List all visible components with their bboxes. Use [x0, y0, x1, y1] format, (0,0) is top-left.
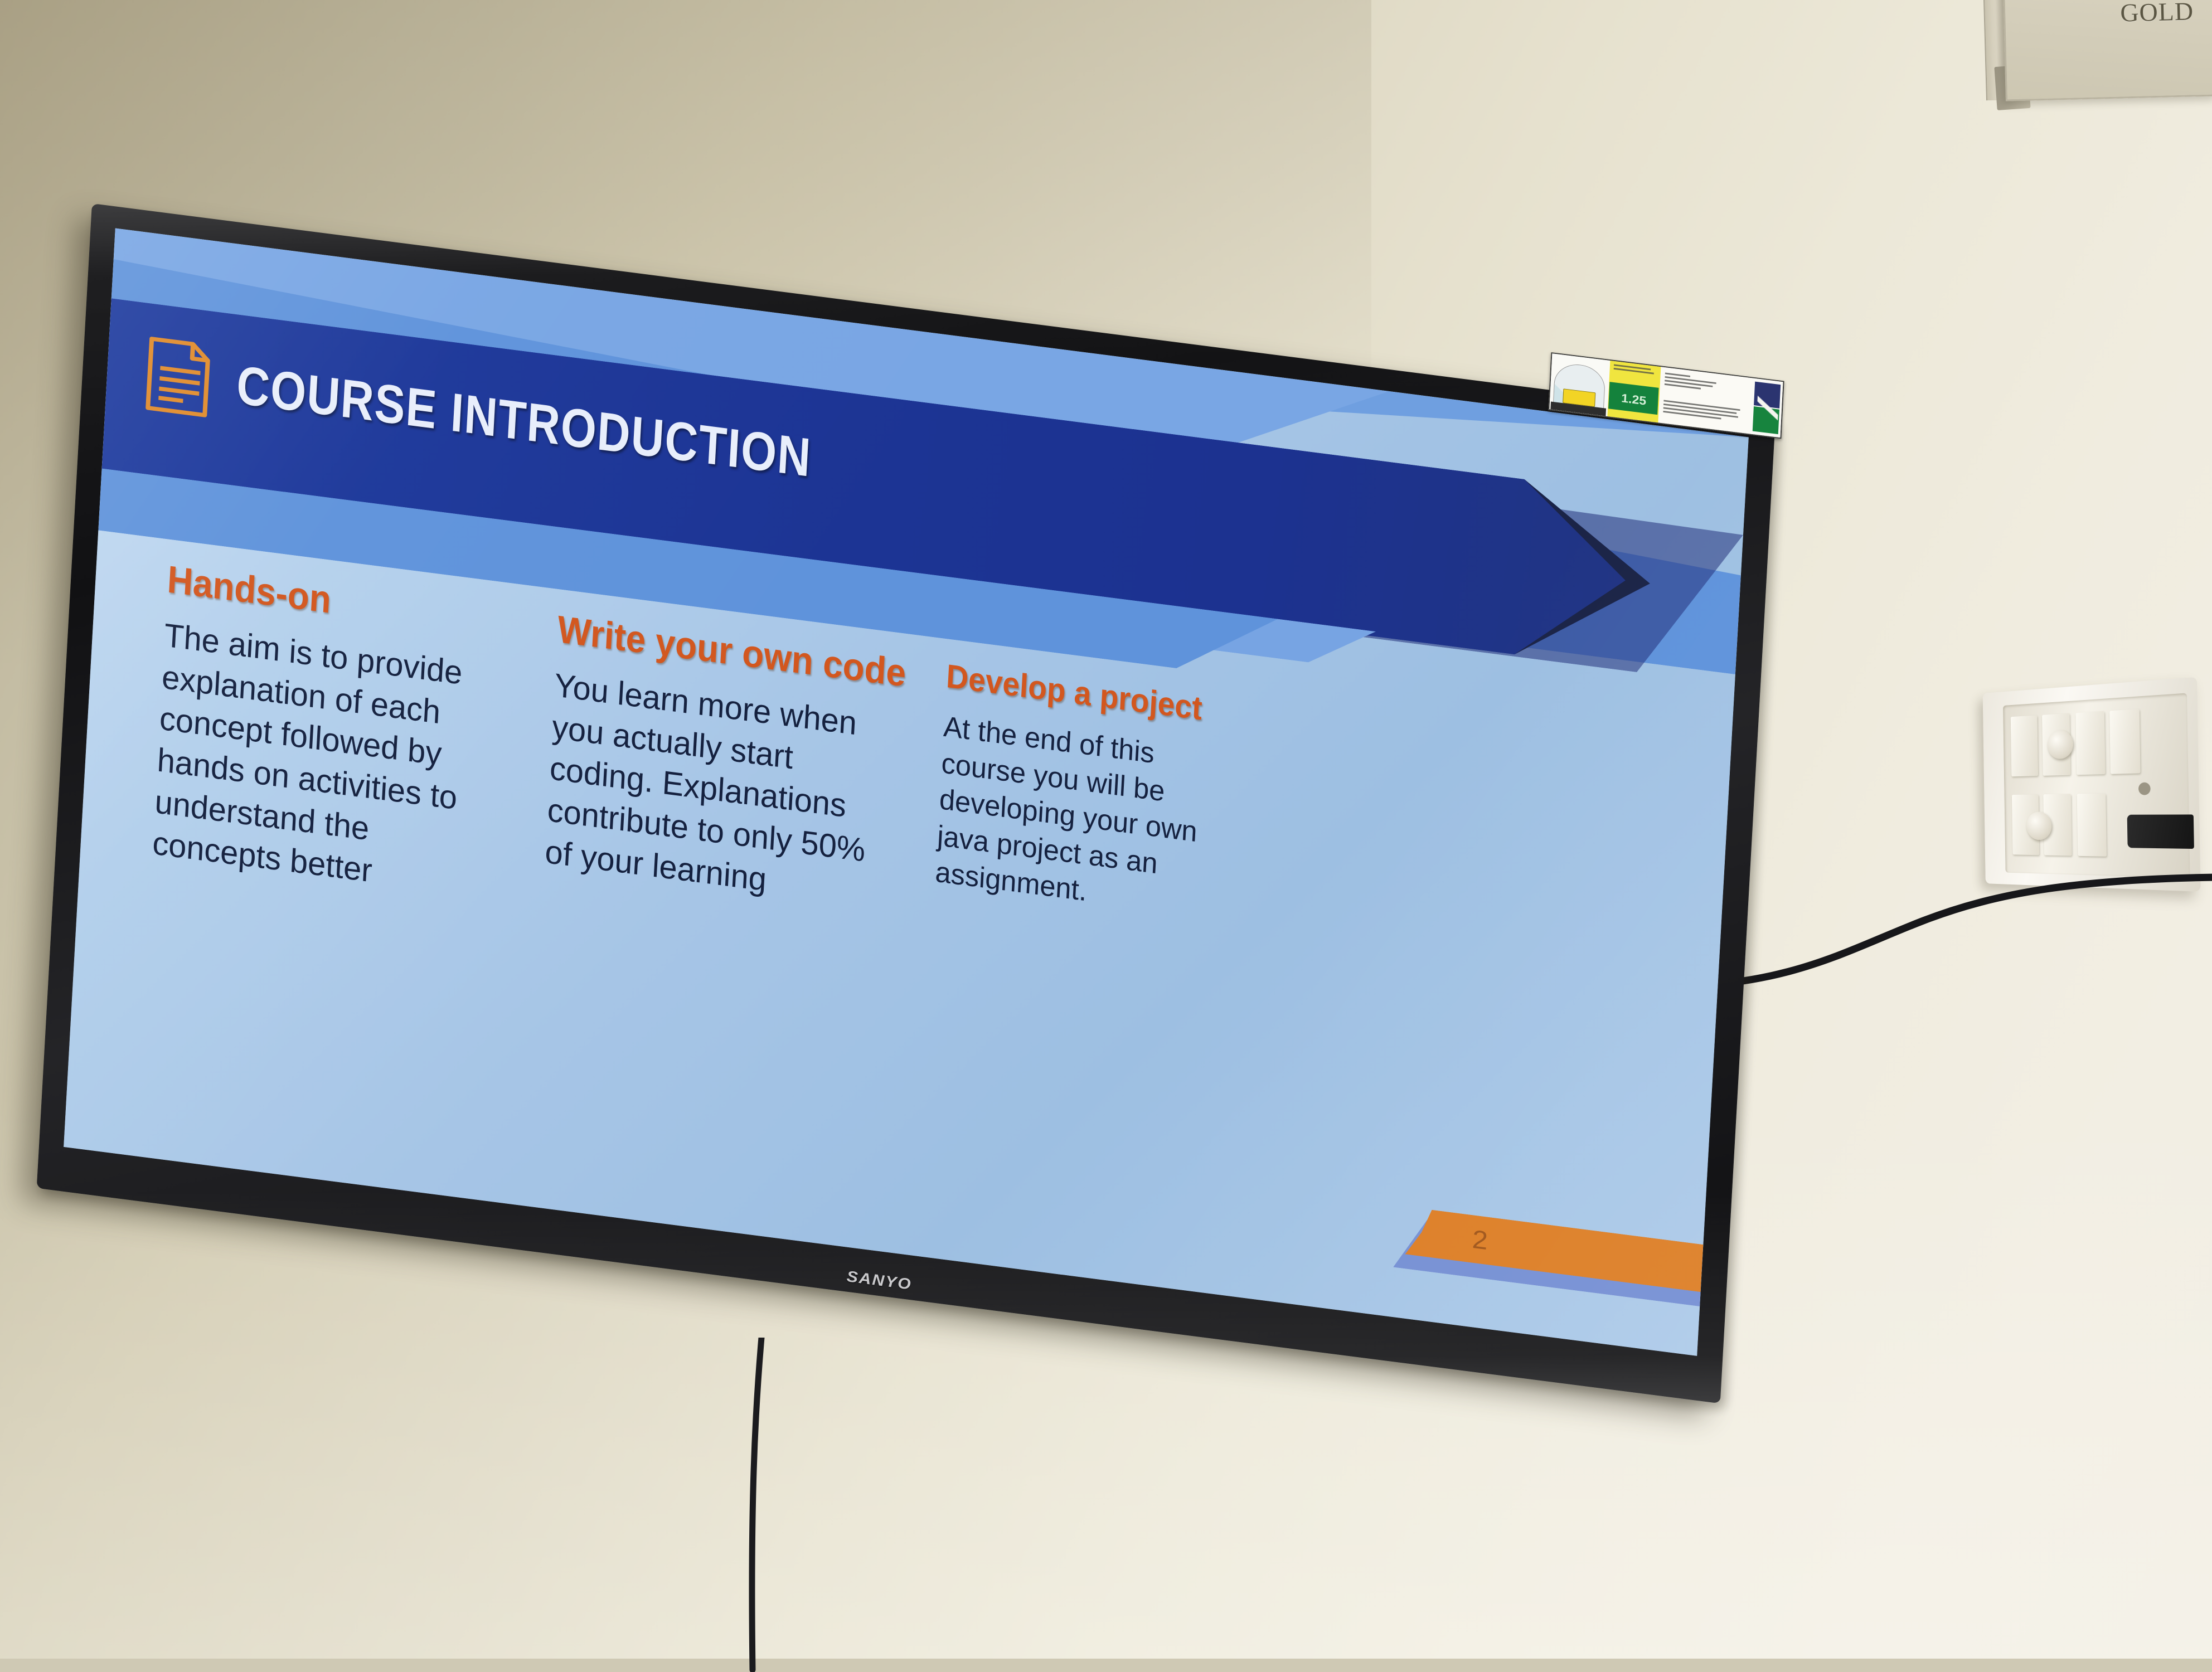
- column-hands-on: Hands-on The aim is to provide explanati…: [152, 557, 526, 909]
- board-label-line2: GOLD: [2120, 0, 2194, 27]
- column-body: At the end of this course you will be de…: [934, 708, 1205, 924]
- sticker-rating-panel: 1.25: [1607, 361, 1661, 422]
- tv-screen[interactable]: COURSE INTRODUCTION Hands-on The aim is …: [64, 228, 1749, 1355]
- power-plug[interactable]: [2127, 814, 2194, 849]
- column-body: You learn more when you actually start c…: [544, 664, 877, 913]
- sticker-specs-panel: [1658, 367, 1753, 434]
- presentation-slide[interactable]: COURSE INTRODUCTION Hands-on The aim is …: [64, 228, 1749, 1355]
- light-switch-4[interactable]: [2109, 709, 2140, 774]
- socket-earth-hole: [2138, 782, 2151, 795]
- sticker-logo-panel: [1750, 378, 1783, 438]
- dimmer-knob-2[interactable]: [2026, 811, 2052, 840]
- light-switch-1[interactable]: [2011, 715, 2038, 776]
- room-scene: S.B. GOLD SANYO: [0, 0, 2212, 1659]
- board-label: S.B. GOLD: [2119, 0, 2194, 27]
- wall-board: S.B. GOLD: [2002, 0, 2212, 101]
- slide-columns: Hands-on The aim is to provide explanati…: [69, 548, 1731, 1272]
- column-body: The aim is to provide explanation of eac…: [152, 614, 487, 905]
- light-switch-3[interactable]: [2075, 711, 2105, 775]
- sticker-rating-title: [1613, 364, 1656, 377]
- tv-brand-logo: SANYO: [846, 1268, 912, 1294]
- page-number: 2: [1471, 1224, 1488, 1256]
- sticker-rating-value: 1.25: [1621, 391, 1647, 409]
- sticker-star-gauge: [1549, 353, 1610, 416]
- switch-plate-inner: [2003, 693, 2190, 878]
- column-write-your-own-code: Write your own code You learn more when …: [544, 607, 916, 917]
- light-switch-7[interactable]: [2077, 793, 2107, 856]
- document-icon: [142, 334, 214, 420]
- wall-switch-plate[interactable]: [1983, 677, 2201, 892]
- column-develop-a-project: Develop a project At the end of this cou…: [934, 657, 1238, 927]
